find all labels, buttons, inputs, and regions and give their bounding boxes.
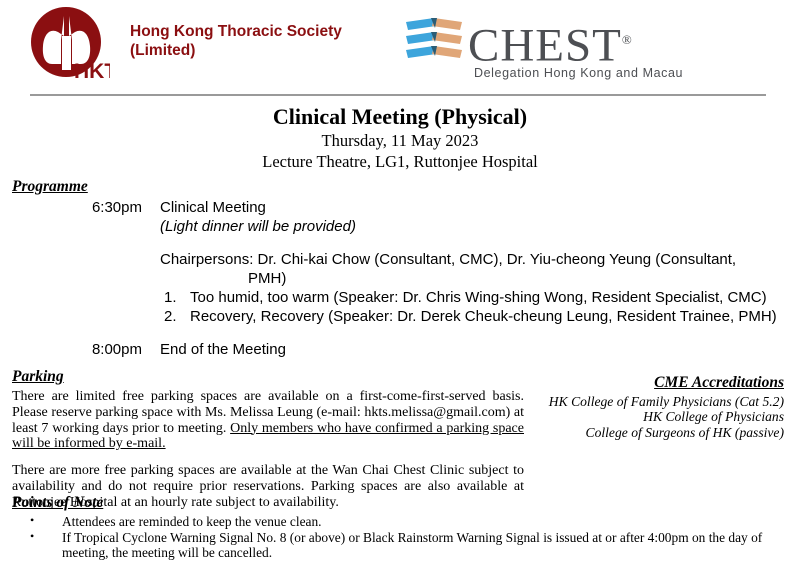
chest-wordmark: CHEST® [468,14,632,72]
programme-heading: Programme [12,178,792,196]
points-of-note-heading: Points of Note [12,494,788,512]
programme-row: 8:00pm End of the Meeting [12,340,792,359]
header-divider [30,94,766,96]
points-of-note-section: Points of Note • Attendees are reminded … [12,494,788,561]
programme-text: End of the Meeting [160,340,792,359]
meeting-venue: Lecture Theatre, LG1, Ruttonjee Hospital [0,151,800,172]
list-item-number: 2. [164,307,177,326]
list-item-number: 1. [164,288,177,307]
cme-line: College of Surgeons of HK (passive) [524,425,784,440]
parking-paragraph-1: There are limited free parking spaces ar… [12,389,524,452]
meeting-date: Thursday, 11 May 2023 [0,130,800,151]
programme-section: Programme 6:30pm Clinical Meeting (Light… [12,178,792,359]
chairpersons-line-1: Chairpersons: Dr. Chi-kai Chow (Consulta… [160,250,760,269]
programme-text: Clinical Meeting [160,198,792,217]
cme-heading: CME Accreditations [524,374,784,392]
programme-spacer [12,236,792,250]
hkts-logo: HKTS [28,6,128,84]
list-item: • If Tropical Cyclone Warning Signal No.… [12,530,788,561]
list-item-text: Attendees are reminded to keep the venue… [62,514,322,529]
hkts-logo-text: HKTS [74,60,110,83]
programme-row: 6:30pm Clinical Meeting [12,198,792,217]
society-name: Hong Kong Thoracic Society (Limited) [130,22,380,60]
chairpersons-line-2: PMH) [160,269,800,288]
document-header: HKTS Hong Kong Thoracic Society (Limited… [0,0,800,96]
chest-tagline: Delegation Hong Kong and Macau [474,66,683,80]
hkts-lung-circle-icon: HKTS [28,6,110,84]
programme-time: 6:30pm [12,198,142,217]
list-item-text: If Tropical Cyclone Warning Signal No. 8… [62,530,762,561]
bullet-icon: • [30,513,34,529]
parking-heading: Parking [12,368,524,386]
title-block: Clinical Meeting (Physical) Thursday, 11… [0,104,800,172]
chest-wordmark-text: CHEST [468,20,622,72]
cme-accreditations-section: CME Accreditations HK College of Family … [524,374,784,440]
cme-line: HK College of Family Physicians (Cat 5.2… [524,394,784,409]
bullet-icon: • [30,529,34,545]
list-item: 2. Recovery, Recovery (Speaker: Dr. Dere… [160,307,800,326]
chest-logo: CHEST® Delegation Hong Kong and Macau [404,14,694,84]
list-item-text: Too humid, too warm (Speaker: Dr. Chris … [190,289,767,306]
programme-spacer [12,326,792,340]
chest-bars-icon [404,16,466,68]
programme-row: (Light dinner will be provided) [12,217,792,236]
programme-time: 8:00pm [12,340,142,359]
list-item: 1. Too humid, too warm (Speaker: Dr. Chr… [160,288,800,307]
list-item: • Attendees are reminded to keep the ven… [12,514,788,530]
cme-line: HK College of Physicians [524,409,784,424]
registered-trademark-icon: ® [622,32,632,47]
programme-text: (Light dinner will be provided) [160,217,792,236]
page-title: Clinical Meeting (Physical) [0,104,800,130]
list-item-text: Recovery, Recovery (Speaker: Dr. Derek C… [190,308,777,325]
